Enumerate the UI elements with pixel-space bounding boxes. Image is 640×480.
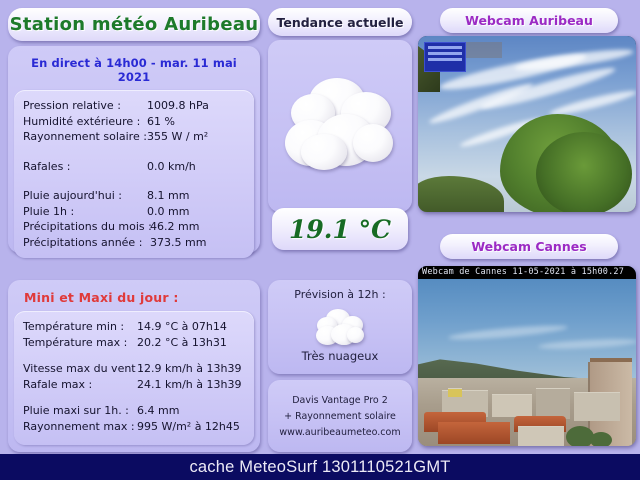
current-temperature-value: 19.1 °C xyxy=(289,215,391,244)
data-row-rain-today: Pluie aujourd'hui : 8.1 mm xyxy=(23,188,254,204)
label-gusts: Rafales : xyxy=(23,159,147,175)
label-rain-month: Précipitations du mois : xyxy=(23,219,150,235)
value-pressure: 1009.8 hPa xyxy=(147,98,254,114)
data-row-temp-min: Température min : 14.9 °C à 07h14 xyxy=(23,319,254,335)
weather-station-page: Station météo Auribeau En direct à 14h00… xyxy=(0,0,640,480)
page-title: Station météo Auribeau xyxy=(10,14,259,35)
spacer xyxy=(23,174,254,188)
minmax-panel: Mini et Maxi du jour : Température min :… xyxy=(8,280,260,452)
value-rain-1h: 0.0 mm xyxy=(147,204,254,220)
data-row-radiation-max: Rayonnement max : 995 W/m² à 12h45 xyxy=(23,419,254,435)
webcam-auribeau-header: Webcam Auribeau xyxy=(440,8,618,33)
data-row-rain-month: Précipitations du mois : 46.2 mm xyxy=(23,219,254,235)
label-humidity: Humidité extérieure : xyxy=(23,114,147,130)
value-gusts: 0.0 km/h xyxy=(147,159,254,175)
value-rain-month: 46.2 mm xyxy=(150,219,254,235)
label-gust-max: Rafale max : xyxy=(23,377,137,393)
trend-header-label: Tendance actuelle xyxy=(276,15,403,30)
webcam-cannes-header: Webcam Cannes xyxy=(440,234,618,259)
live-data-list: Pression relative : 1009.8 hPa Humidité … xyxy=(14,90,254,258)
data-row-temp-max: Température max : 20.2 °C à 13h31 xyxy=(23,335,254,351)
label-wind-max: Vitesse max du vent : xyxy=(23,361,137,377)
label-rain-year: Précipitations année : xyxy=(23,235,150,251)
value-radiation-max: 995 W/m² à 12h45 xyxy=(137,419,254,435)
webcam-cannes-image[interactable]: Webcam de Cannes 11-05-2021 à 15h00.27 xyxy=(418,266,636,446)
credits-panel: Davis Vantage Pro 2 + Rayonnement solair… xyxy=(268,380,412,452)
building xyxy=(492,394,532,417)
data-row-pressure: Pression relative : 1009.8 hPa xyxy=(23,98,254,114)
status-bar-text: cache MeteoSurf 1301110521GMT xyxy=(189,458,450,477)
roof xyxy=(438,422,510,444)
minmax-data-list: Température min : 14.9 °C à 07h14 Tempér… xyxy=(14,311,254,445)
webcam-badge-icon xyxy=(424,42,466,72)
value-rain-year: 373.5 mm xyxy=(150,235,254,251)
data-row-rain-max-1h: Pluie maxi sur 1h. : 6.4 mm xyxy=(23,403,254,419)
label-solar-radiation: Rayonnement solaire : xyxy=(23,129,147,145)
building xyxy=(518,426,564,446)
spacer xyxy=(23,350,254,361)
data-row-rain-year: Précipitations année : 373.5 mm xyxy=(23,235,254,251)
live-data-panel: En direct à 14h00 - mar. 11 mai 2021 Pre… xyxy=(8,46,260,253)
cloudy-icon xyxy=(279,72,401,180)
label-radiation-max: Rayonnement max : xyxy=(23,419,137,435)
current-temperature-display: 19.1 °C xyxy=(272,208,408,250)
live-timestamp: En direct à 14h00 - mar. 11 mai 2021 xyxy=(14,52,254,90)
data-row-gust-max: Rafale max : 24.1 km/h à 13h39 xyxy=(23,377,254,393)
label-temp-max: Température max : xyxy=(23,335,137,351)
data-row-rain-1h: Pluie 1h : 0.0 mm xyxy=(23,204,254,220)
value-temp-max: 20.2 °C à 13h31 xyxy=(137,335,254,351)
station-title-bar: Station météo Auribeau xyxy=(8,8,260,41)
value-rain-max-1h: 6.4 mm xyxy=(137,403,254,419)
label-pressure: Pression relative : xyxy=(23,98,147,114)
minmax-title: Mini et Maxi du jour : xyxy=(14,286,254,311)
value-temp-min: 14.9 °C à 07h14 xyxy=(137,319,254,335)
awning xyxy=(448,388,462,397)
trend-panel xyxy=(268,40,412,212)
cloudy-icon xyxy=(314,307,366,347)
label-rain-max-1h: Pluie maxi sur 1h. : xyxy=(23,403,137,419)
building xyxy=(536,388,570,419)
label-rain-1h: Pluie 1h : xyxy=(23,204,147,220)
tree xyxy=(536,132,632,212)
spacer xyxy=(23,392,254,403)
vegetation xyxy=(590,432,612,446)
data-row-humidity: Humidité extérieure : 61 % xyxy=(23,114,254,130)
trend-header-bar: Tendance actuelle xyxy=(268,8,412,36)
vegetation xyxy=(566,426,594,446)
webcam-cannes-timestamp: Webcam de Cannes 11-05-2021 à 15h00.27 xyxy=(418,266,636,279)
value-rain-today: 8.1 mm xyxy=(147,188,254,204)
forecast-panel: Prévision à 12h : Très nuageux xyxy=(268,280,412,374)
data-row-wind-max: Vitesse max du vent : 12.9 km/h à 13h39 xyxy=(23,361,254,377)
value-humidity: 61 % xyxy=(147,114,254,130)
webcam-auribeau-image[interactable] xyxy=(418,36,636,212)
building xyxy=(574,392,620,421)
spacer xyxy=(23,145,254,159)
label-rain-today: Pluie aujourd'hui : xyxy=(23,188,147,204)
forecast-condition-label: Très nuageux xyxy=(302,347,379,363)
credits-website[interactable]: www.auribeaumeteo.com xyxy=(279,427,400,438)
webcam-auribeau-label: Webcam Auribeau xyxy=(465,13,593,28)
data-row-solar-radiation: Rayonnement solaire : 355 W / m² xyxy=(23,129,254,145)
status-bar: cache MeteoSurf 1301110521GMT xyxy=(0,454,640,480)
forecast-title: Prévision à 12h : xyxy=(294,280,385,301)
value-wind-max: 12.9 km/h à 13h39 xyxy=(137,361,254,377)
value-gust-max: 24.1 km/h à 13h39 xyxy=(137,377,254,393)
label-temp-min: Température min : xyxy=(23,319,137,335)
webcam-cannes-label: Webcam Cannes xyxy=(471,239,586,254)
data-row-gusts: Rafales : 0.0 km/h xyxy=(23,159,254,175)
value-solar-radiation: 355 W / m² xyxy=(147,129,254,145)
credits-sensor: + Rayonnement solaire xyxy=(284,411,396,422)
credits-device: Davis Vantage Pro 2 xyxy=(292,395,388,406)
